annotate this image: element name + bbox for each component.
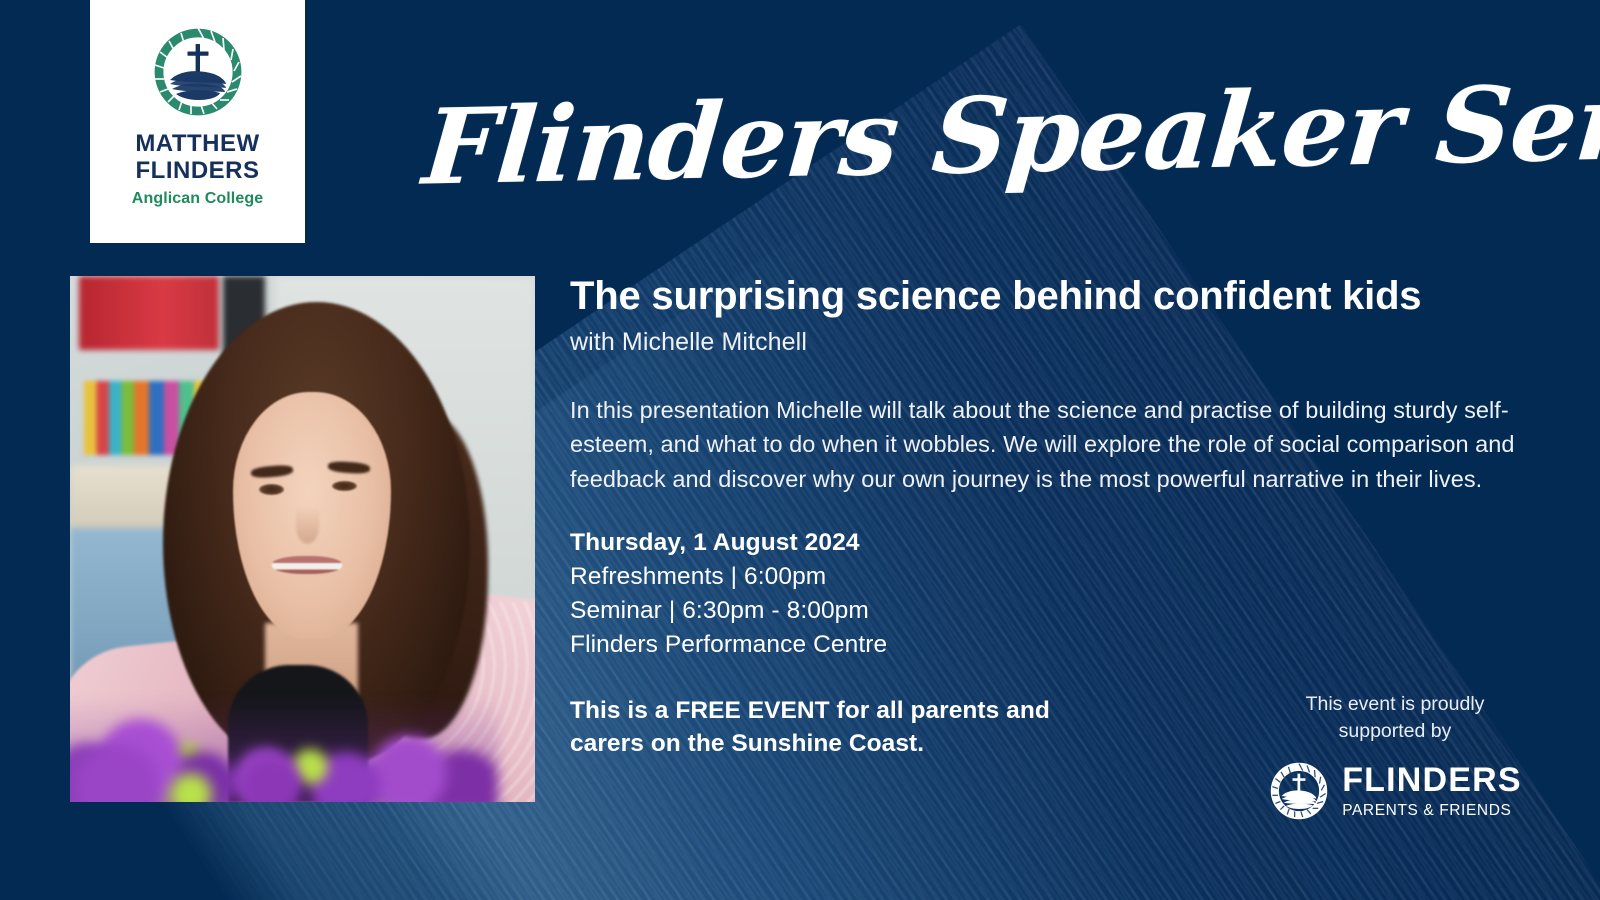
- speaker-portrait: [70, 276, 535, 802]
- detail-seminar: Seminar | 6:30pm - 8:00pm: [570, 594, 1530, 628]
- detail-refreshments: Refreshments | 6:00pm: [570, 560, 1530, 594]
- sponsor-note: This event is proudly supported by: [1265, 691, 1525, 744]
- sponsor-name: FLINDERS: [1342, 763, 1522, 797]
- event-description: In this presentation Michelle will talk …: [570, 393, 1520, 497]
- event-subhead: with Michelle Mitchell: [570, 328, 1530, 357]
- sponsor-block: This event is proudly supported by: [1265, 691, 1525, 822]
- banner-script-title: Flinders Speaker Series: [417, 48, 1352, 227]
- flinders-rope-crest-icon: [1268, 760, 1330, 822]
- logo-line-flinders: FLINDERS: [136, 159, 260, 183]
- event-details: Thursday, 1 August 2024 Refreshments | 6…: [570, 526, 1530, 661]
- event-headline: The surprising science behind confident …: [570, 274, 1530, 319]
- school-logo-card: MATTHEW FLINDERS Anglican College: [90, 0, 305, 243]
- logo-subtitle: Anglican College: [132, 190, 263, 208]
- sponsor-tagline: PARENTS & FRIENDS: [1342, 803, 1522, 819]
- detail-venue: Flinders Performance Centre: [570, 628, 1530, 662]
- poster-canvas: MATTHEW FLINDERS Anglican College Flinde…: [0, 0, 1600, 900]
- detail-date: Thursday, 1 August 2024: [570, 526, 1530, 560]
- event-content: The surprising science behind confident …: [570, 274, 1530, 761]
- crest-icon: [148, 22, 248, 122]
- sponsor-wordmark: FLINDERS PARENTS & FRIENDS: [1342, 763, 1522, 819]
- logo-line-matthew: MATTHEW: [135, 132, 259, 156]
- sponsor-logo: FLINDERS PARENTS & FRIENDS: [1265, 760, 1525, 822]
- free-event-notice: This is a FREE EVENT for all parents and…: [570, 694, 1090, 762]
